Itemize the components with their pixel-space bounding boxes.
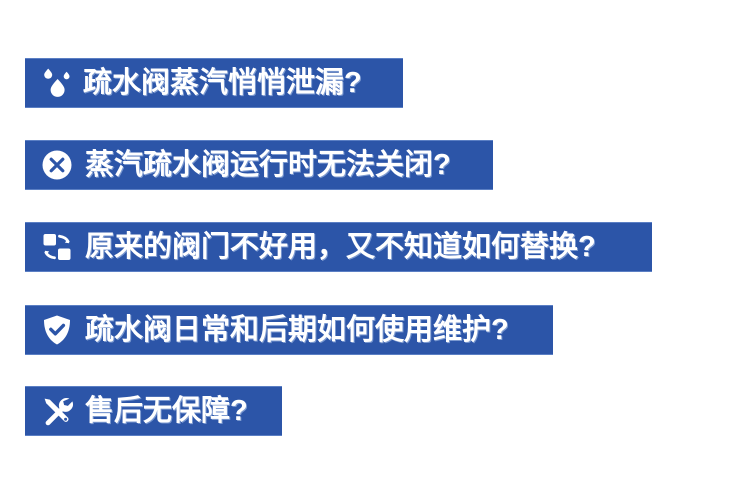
question-bar-4-label: 疏水阀日常和后期如何使用维护? [85, 316, 521, 345]
swap-exchange-icon [39, 229, 75, 265]
question-bar-2[interactable]: 蒸汽疏水阀运行时无法关闭? [25, 140, 493, 190]
water-drops-icon [39, 65, 75, 101]
question-bar-5[interactable]: 售后无保障? [25, 386, 282, 436]
question-bar-1-label: 疏水阀蒸汽悄悄泄漏? [83, 69, 374, 98]
question-bar-5-label: 售后无保障? [85, 397, 260, 426]
question-bar-1[interactable]: 疏水阀蒸汽悄悄泄漏? [25, 58, 403, 108]
question-bar-3[interactable]: 原来的阀门不好用，又不知道如何替换? [25, 222, 652, 272]
shield-check-icon [39, 312, 75, 348]
question-bar-4[interactable]: 疏水阀日常和后期如何使用维护? [25, 305, 553, 355]
question-list-poster: 疏水阀蒸汽悄悄泄漏? 蒸汽疏水阀运行时无法关闭? 原来的阀门不好用，又不知道如何… [0, 0, 750, 503]
tools-wrench-screwdriver-icon [39, 393, 75, 429]
circle-x-icon [39, 147, 75, 183]
question-bar-3-label: 原来的阀门不好用，又不知道如何替换? [85, 233, 608, 262]
question-bar-2-label: 蒸汽疏水阀运行时无法关闭? [85, 151, 463, 180]
